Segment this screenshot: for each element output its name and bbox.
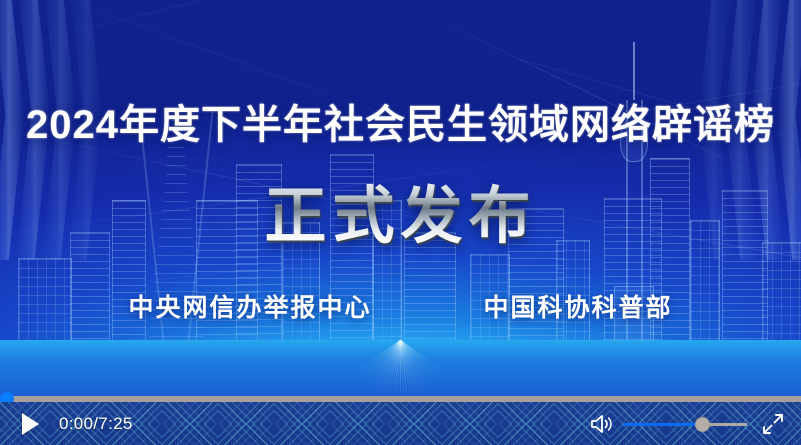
video-poster-frame[interactable]: 2024年度下半年社会民生领域网络辟谣榜 正式发布 中央网信办举报中心 中国科协… [0, 0, 801, 396]
volume-handle[interactable] [695, 417, 710, 432]
organization-credits: 中央网信办举报中心 中国科协科普部 [0, 288, 801, 324]
time-display: 0:00/7:25 [59, 414, 133, 434]
volume-fill [623, 423, 702, 426]
subtitle-metallic: 正式发布 [0, 165, 801, 255]
video-player[interactable]: 2024年度下半年社会民生领域网络辟谣榜 正式发布 中央网信办举报中心 中国科协… [0, 0, 801, 445]
volume-icon[interactable] [589, 412, 615, 436]
play-button[interactable] [22, 413, 39, 435]
volume-slider[interactable] [623, 415, 747, 433]
video-control-bar[interactable]: 0:00/7:25 [0, 402, 801, 445]
page-title: 2024年度下半年社会民生领域网络辟谣榜 [0, 92, 801, 150]
organization-name-2: 中国科协科普部 [484, 288, 673, 324]
perspective-ground-grid [0, 340, 801, 396]
fullscreen-button[interactable] [761, 412, 785, 436]
organization-name-1: 中央网信办举报中心 [128, 288, 371, 324]
